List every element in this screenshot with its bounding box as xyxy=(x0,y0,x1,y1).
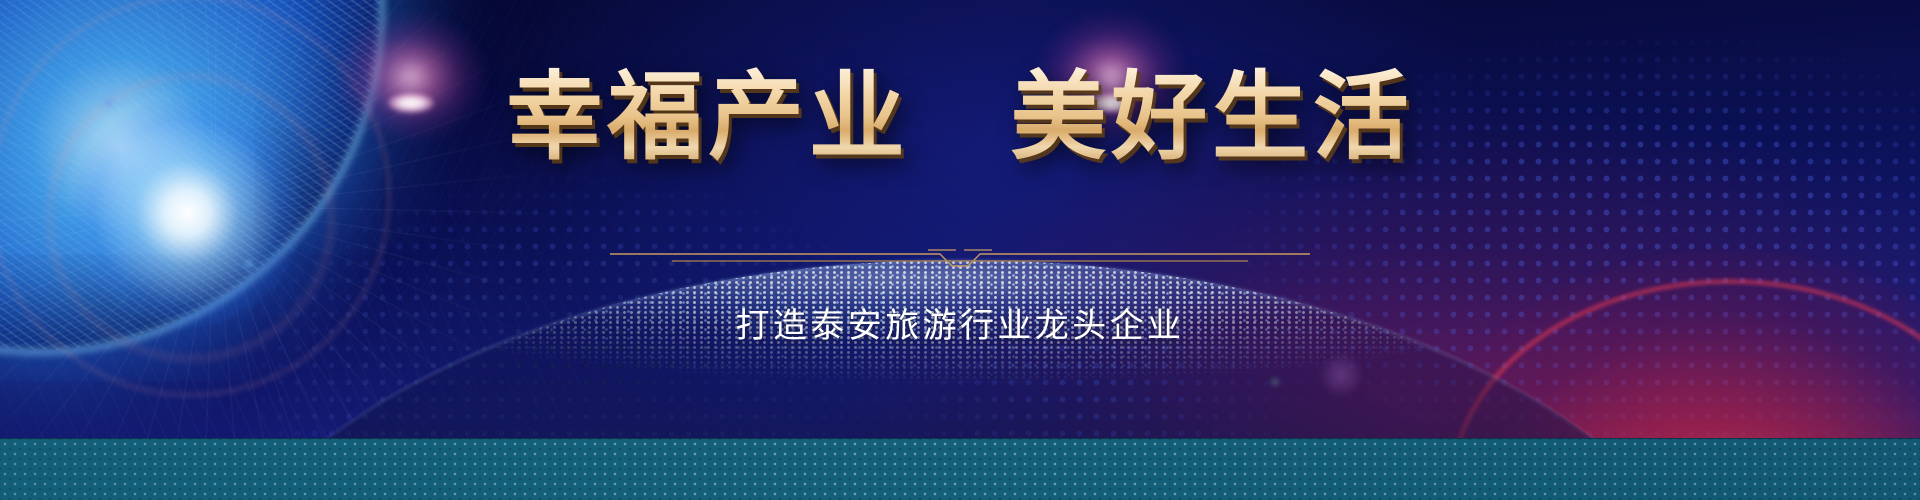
hero-banner: 幸福产业 美好生活 打造泰安旅游行业龙头企业 xyxy=(0,0,1920,500)
bottom-bar-tint xyxy=(0,439,1920,500)
page-subtitle: 打造泰安旅游行业龙头企业 xyxy=(0,298,1920,347)
bottom-teal-bar xyxy=(0,438,1920,500)
page-title: 幸福产业 美好生活 xyxy=(0,66,1920,170)
banner-content: 幸福产业 美好生活 打造泰安旅游行业龙头企业 xyxy=(0,0,1920,500)
ornamental-divider xyxy=(610,238,1310,272)
